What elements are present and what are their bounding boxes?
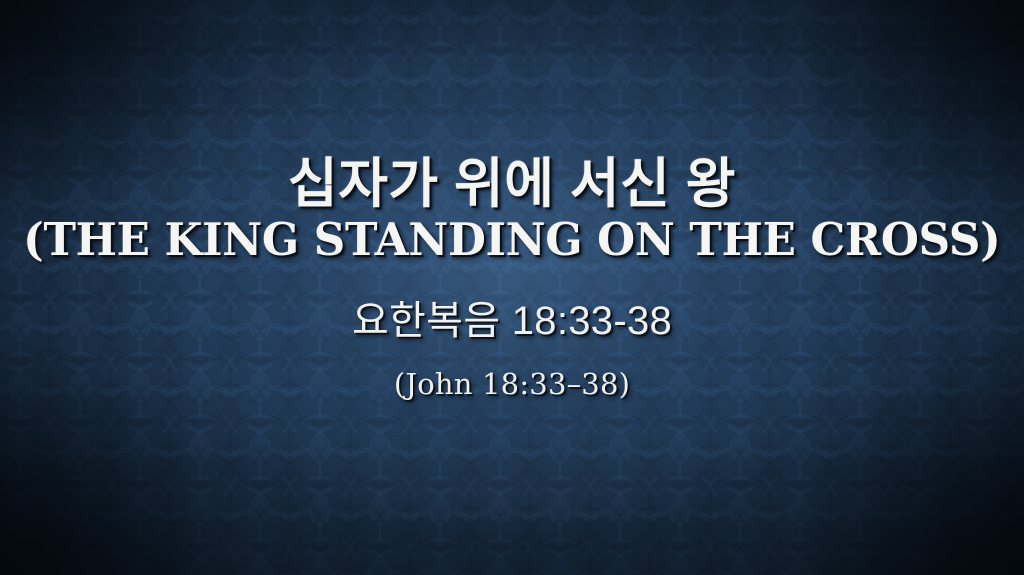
presentation-slide: 십자가 위에 서신 왕 (THE KING STANDING ON THE CR…	[0, 0, 1024, 575]
slide-title-korean: 십자가 위에 서신 왕	[288, 157, 736, 212]
slide-content: 십자가 위에 서신 왕 (THE KING STANDING ON THE CR…	[0, 0, 1024, 575]
scripture-reference-english: (John 18:33–38)	[394, 369, 630, 401]
scripture-reference-korean: 요한복음 18:33-38	[352, 299, 672, 343]
slide-title-english: (THE KING STANDING ON THE CROSS)	[23, 216, 1000, 263]
